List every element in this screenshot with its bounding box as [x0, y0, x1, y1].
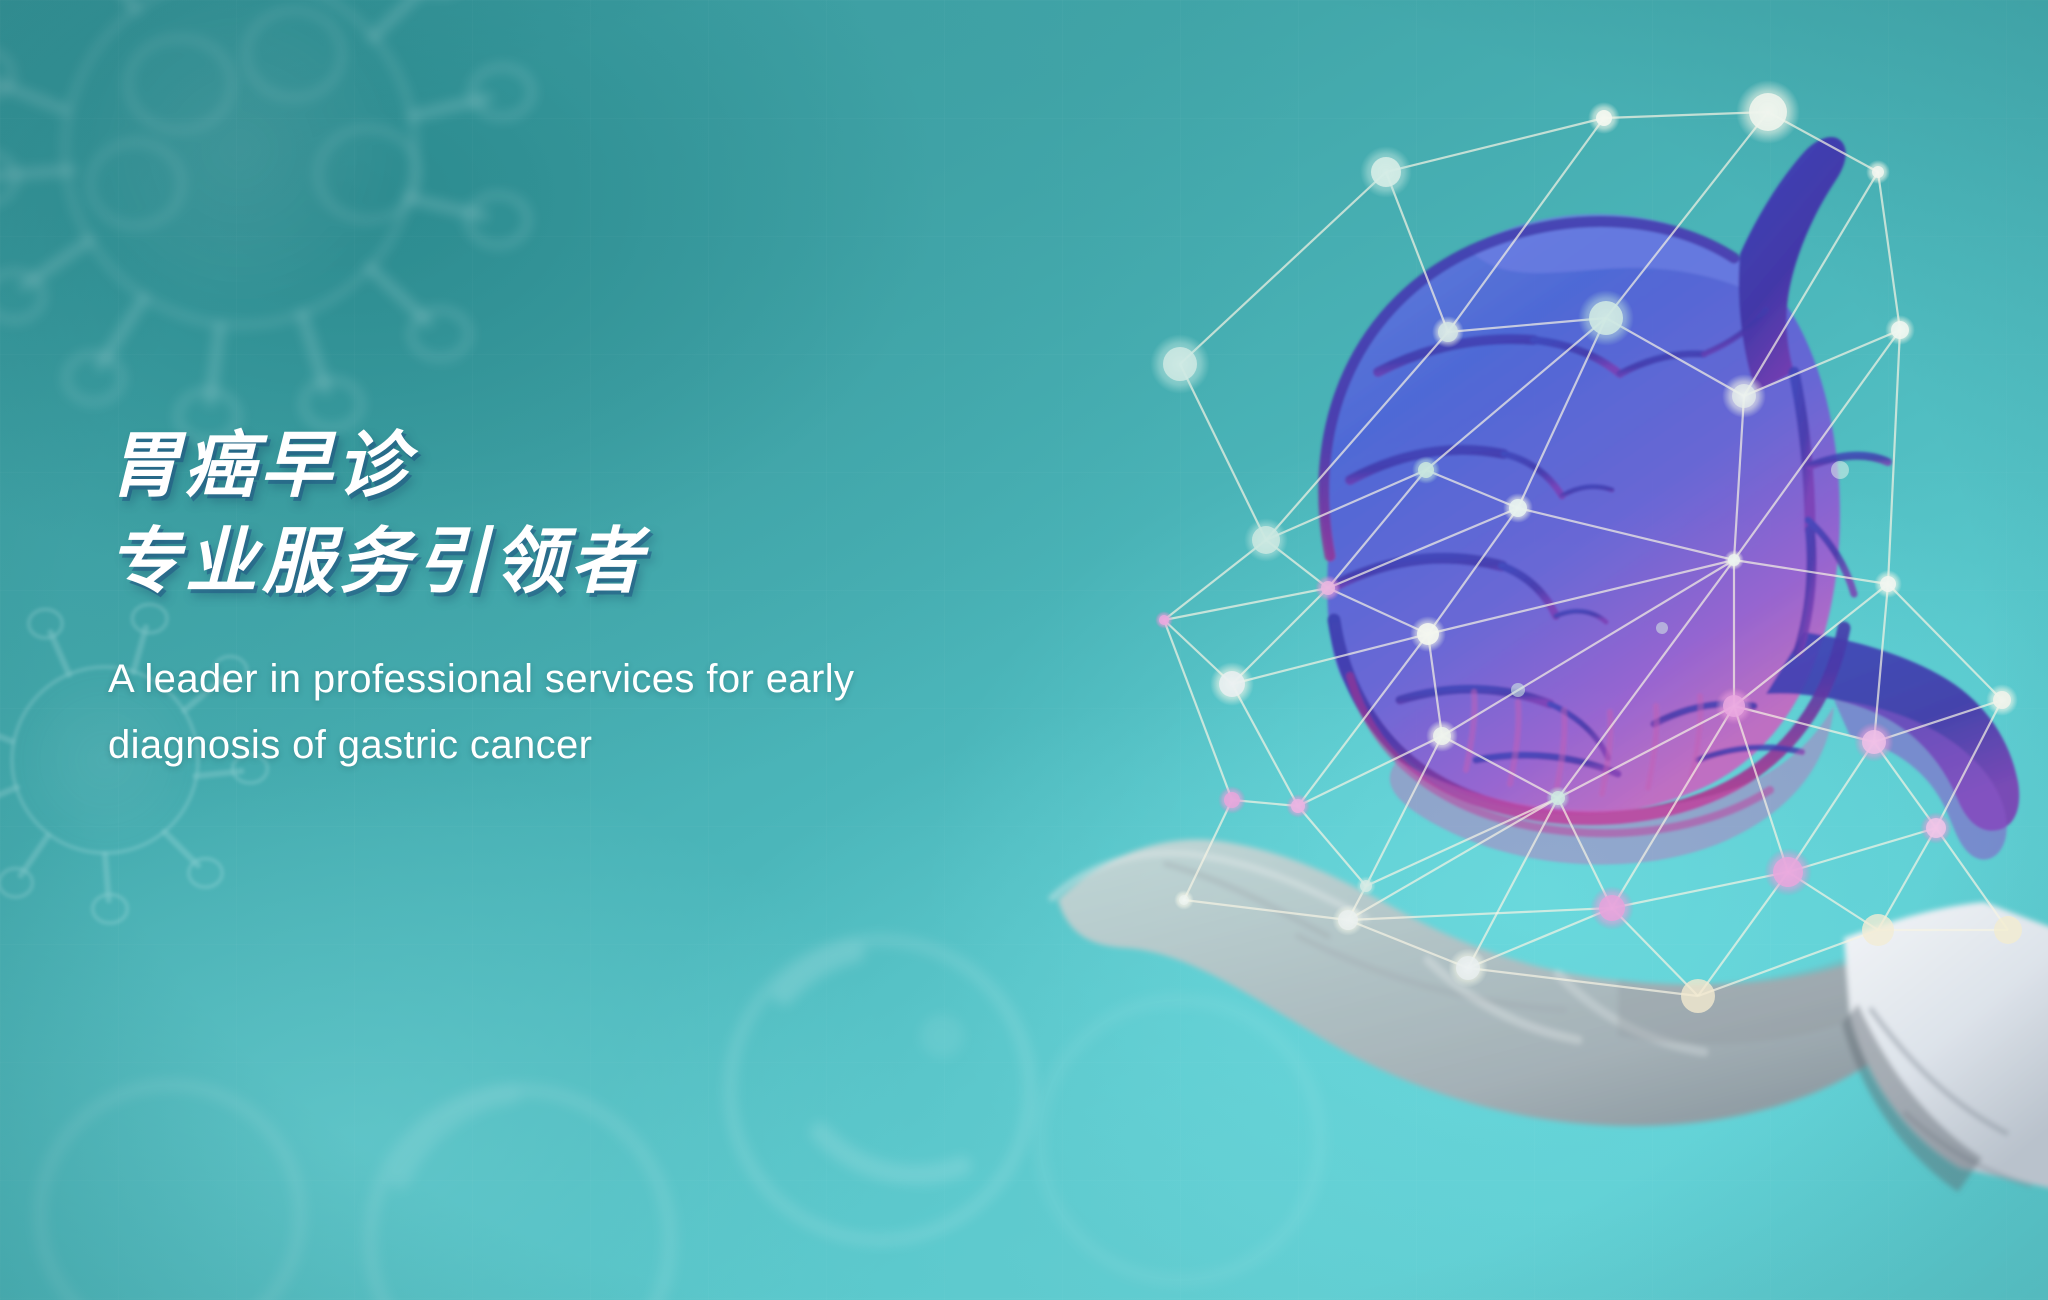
headline-line-1: 胃癌早诊 — [108, 418, 1148, 514]
subheadline-line-2: diagnosis of gastric cancer — [108, 712, 1118, 778]
subheadline-block: A leader in professional services for ea… — [108, 646, 1118, 778]
headline-block: 胃癌早诊 专业服务引领者 A leader in professional se… — [108, 418, 1148, 778]
headline-line-2: 专业服务引领者 — [108, 514, 1148, 610]
banner-root: 胃癌早诊 专业服务引领者 A leader in professional se… — [0, 0, 2048, 1300]
subheadline-line-1: A leader in professional services for ea… — [108, 646, 1118, 712]
